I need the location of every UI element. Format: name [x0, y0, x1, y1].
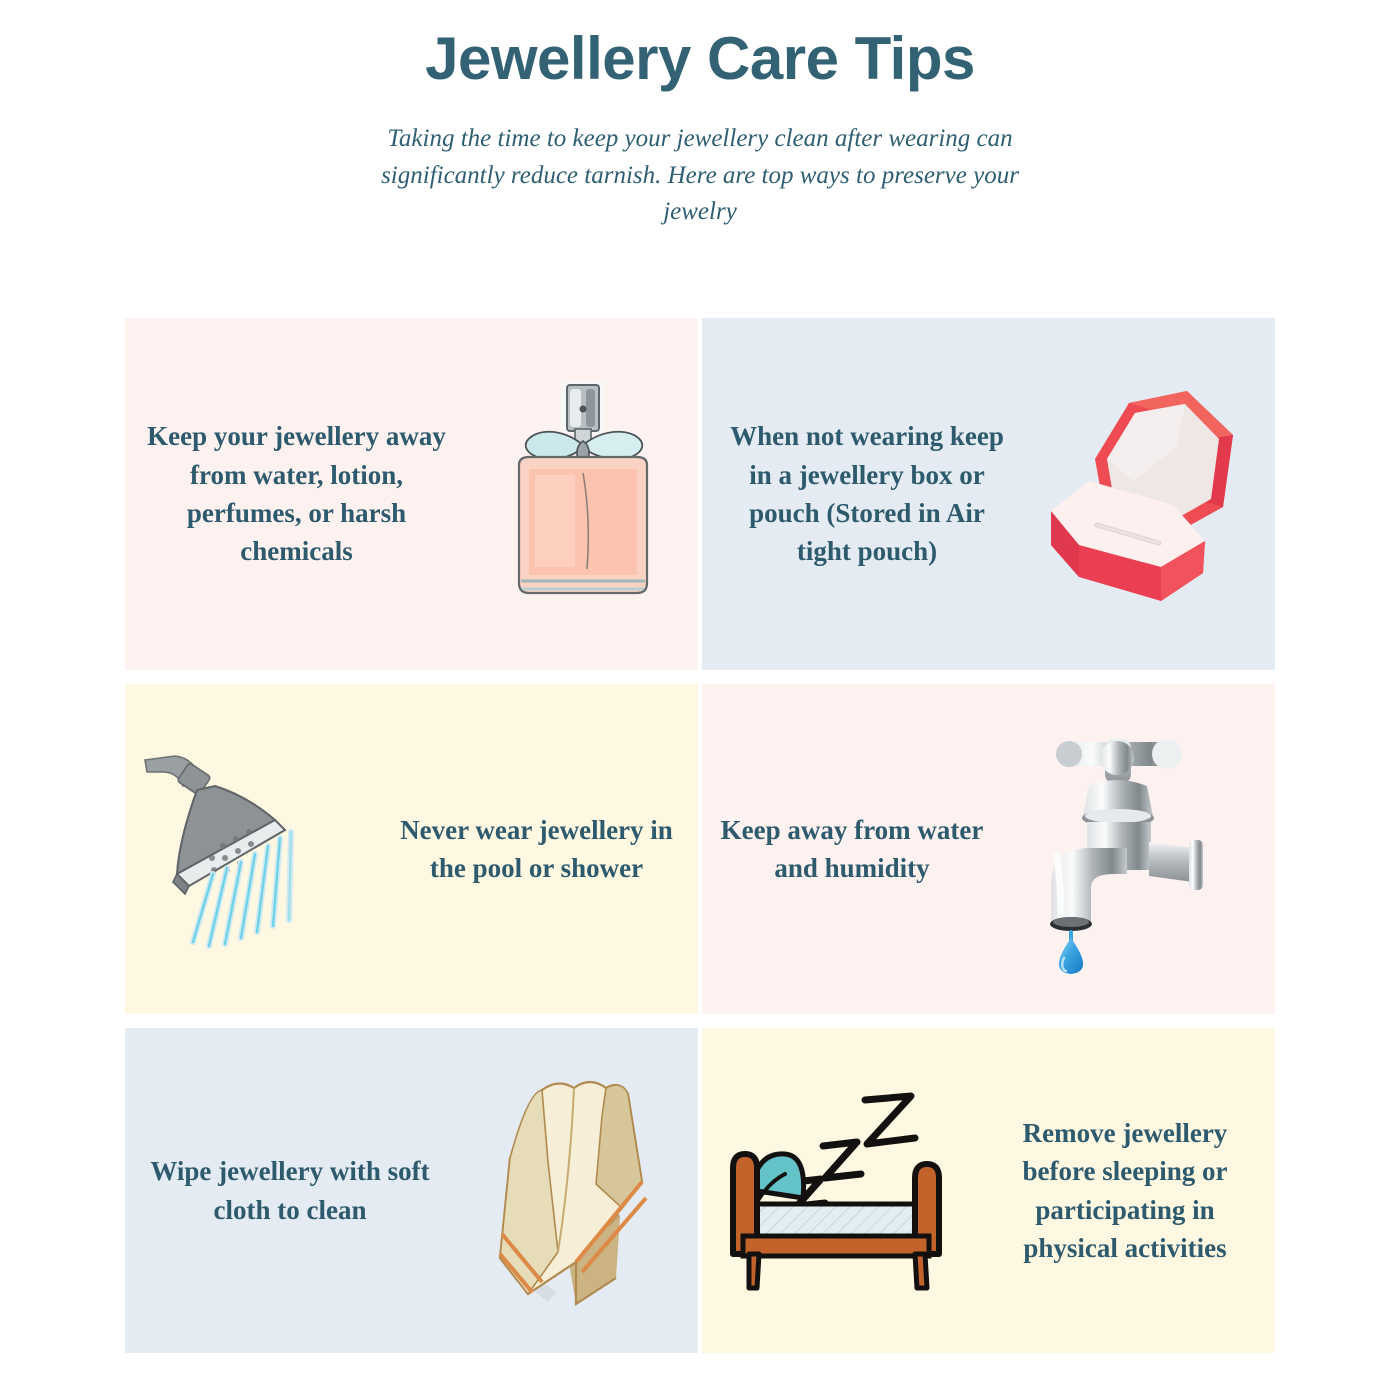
- tip-card-text: Remove jewellery before sleeping or part…: [975, 1114, 1275, 1267]
- tip-card-pool-shower: Never wear jewellery in the pool or show…: [125, 684, 698, 1014]
- tip-card-text: Never wear jewellery in the pool or show…: [375, 811, 698, 888]
- tip-card-water-humidity: Keep away from water and humidity: [702, 684, 1275, 1014]
- header: Jewellery Care Tips Taking the time to k…: [0, 0, 1400, 231]
- cloth-icon: [455, 1028, 685, 1353]
- infographic-page: Jewellery Care Tips Taking the time to k…: [0, 0, 1400, 1400]
- page-subtitle: Taking the time to keep your jewellery c…: [380, 121, 1020, 231]
- tip-card-text: Keep away from water and humidity: [702, 811, 1002, 888]
- page-title: Jewellery Care Tips: [0, 24, 1400, 93]
- tip-card-jewellery-box: When not wearing keep in a jewellery box…: [702, 318, 1275, 670]
- tips-grid: Keep your jewellery away from water, lot…: [125, 318, 1275, 1353]
- perfume-bottle-icon: [468, 318, 698, 670]
- tip-card-text: Keep your jewellery away from water, lot…: [125, 417, 468, 570]
- ring-box-icon: [1032, 318, 1262, 670]
- tip-card-sleeping-activities: Remove jewellery before sleeping or part…: [702, 1028, 1275, 1353]
- faucet-icon: [1002, 684, 1232, 1014]
- tip-card-text: Wipe jewellery with soft cloth to clean: [125, 1152, 455, 1229]
- tip-card-text: When not wearing keep in a jewellery box…: [702, 417, 1032, 570]
- bed-zzz-icon: [705, 1028, 975, 1353]
- tip-card-soft-cloth: Wipe jewellery with soft cloth to clean: [125, 1028, 698, 1353]
- shower-head-icon: [125, 684, 375, 1014]
- tip-card-water-lotion-perfume: Keep your jewellery away from water, lot…: [125, 318, 698, 670]
